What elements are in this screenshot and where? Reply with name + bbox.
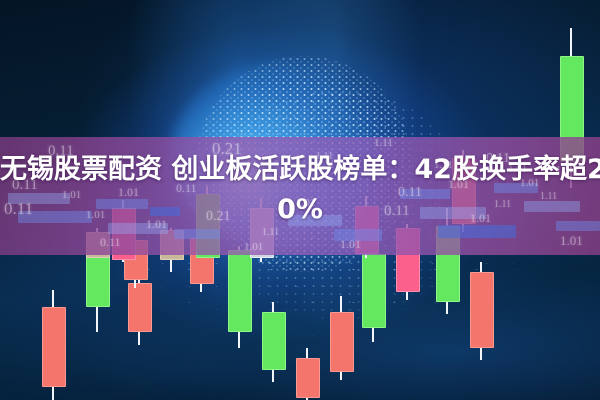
candle-01 <box>42 290 64 400</box>
candle-10 <box>296 348 318 400</box>
candle-body <box>296 358 320 398</box>
candle-body <box>362 254 386 328</box>
candle-12 <box>362 248 384 342</box>
banner-image: 0.110.211.111.110.111.011.010.111.010.21… <box>0 0 600 400</box>
band-bar <box>174 229 220 239</box>
headline-line-1: 无锡股票配资 创业板活跃股榜单：42股换手率超2 <box>0 150 600 190</box>
headline-line-2: 0% <box>0 190 600 230</box>
band-number: 1.11 <box>374 137 393 149</box>
band-number: 0.11 <box>100 235 121 250</box>
candle-body <box>470 272 494 348</box>
candle-body <box>228 250 252 332</box>
band-number: 1.01 <box>244 241 263 253</box>
band-number: 1.01 <box>560 233 583 249</box>
candle-body <box>128 283 152 332</box>
candle-body <box>330 312 354 372</box>
candle-09 <box>262 302 284 382</box>
candle-body <box>42 307 66 387</box>
candle-11 <box>330 296 352 380</box>
band-number: 1.01 <box>340 237 361 252</box>
candle-body <box>262 312 286 370</box>
candle-08 <box>228 246 250 348</box>
page-title: 无锡股票配资 创业板活跃股榜单：42股换手率超2 0% <box>0 150 600 230</box>
candle-15 <box>470 262 492 360</box>
